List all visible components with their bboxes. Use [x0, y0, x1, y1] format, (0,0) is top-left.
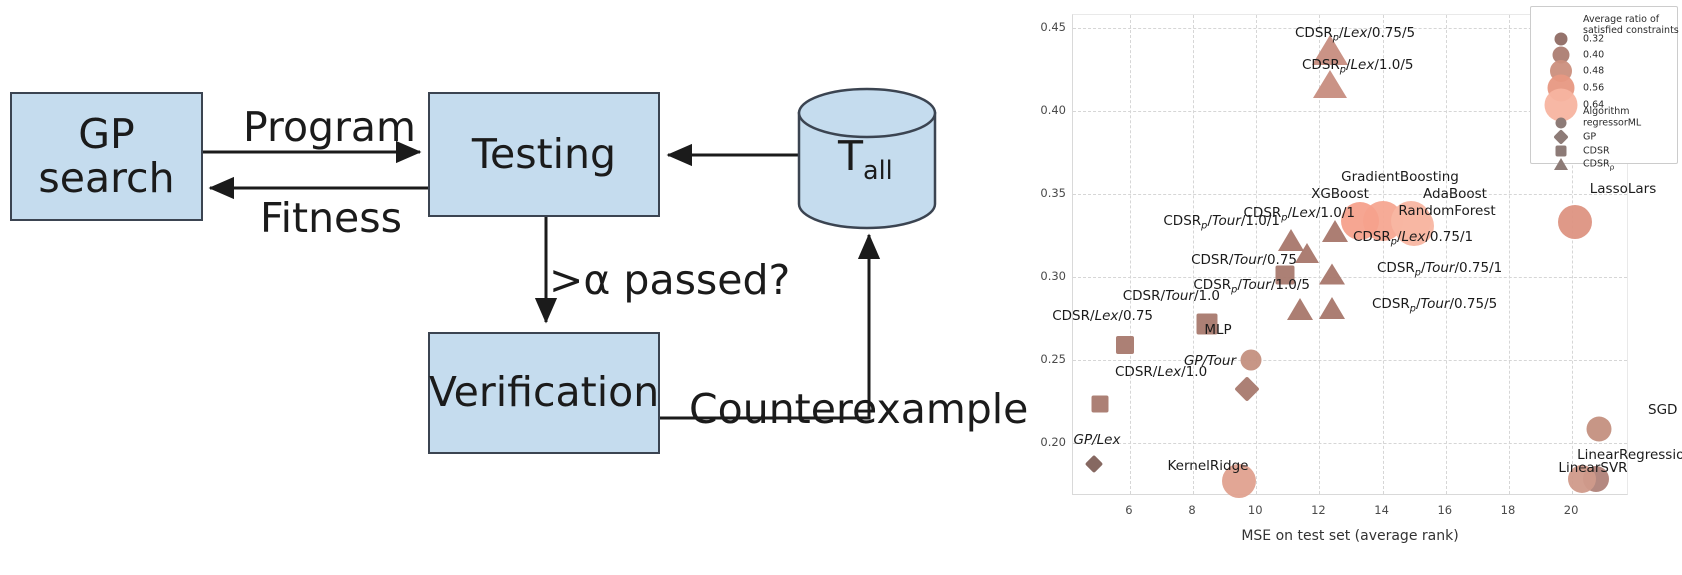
x-tick-label: 16: [1425, 503, 1465, 517]
scatter-point-label: CDSRp/Lex/0.75/1: [1353, 231, 1473, 247]
scatter-point-label: RandomForest: [1398, 205, 1495, 219]
y-tick-label: 0.30: [1020, 269, 1066, 283]
cylinder-label: Tall: [838, 132, 893, 185]
y-tick-label: 0.20: [1020, 435, 1066, 449]
scatter-point-label: XGBoost: [1311, 188, 1369, 202]
scatter-point-label: CDSRp/Tour/0.75/5: [1372, 298, 1497, 314]
scatter-point[interactable]: [1586, 416, 1611, 441]
y-tick-label: 0.25: [1020, 352, 1066, 366]
scatter-point-label: LassoLars: [1590, 183, 1657, 197]
x-tick-label: 6: [1109, 503, 1149, 517]
scatter-point-label: SGD: [1648, 404, 1677, 418]
y-tick-label: 0.45: [1020, 20, 1066, 34]
scatter-point-label: CDSRp/Tour/0.75/1: [1377, 262, 1502, 278]
box-gp-search[interactable]: GP search: [10, 92, 203, 221]
legend-size-label: 0.48: [1583, 66, 1604, 77]
scatter-point-label: LinearSVR: [1558, 462, 1627, 476]
legend-size-label: 0.32: [1583, 33, 1604, 44]
legend-size-label: 0.56: [1583, 82, 1604, 93]
edge-label-fitness: Fitness: [260, 194, 402, 242]
gridline-horizontal: [1073, 360, 1627, 361]
cylinder-label-sub: all: [863, 155, 893, 185]
legend-size-label: 0.40: [1583, 49, 1604, 60]
flow-diagram: GP search Testing Verification Tall Prog…: [0, 0, 1010, 575]
box-testing-label: Testing: [472, 133, 616, 176]
scatter-point[interactable]: [1319, 263, 1345, 284]
legend-shape-title: Algorithm: [1583, 106, 1630, 117]
legend-shape-label: CDSRρ: [1583, 159, 1614, 172]
y-tick-label: 0.35: [1020, 186, 1066, 200]
scatter-point-label: KernelRidge: [1168, 460, 1249, 474]
chart-legend: Average ratio of satisfied constraints 0…: [1530, 6, 1678, 164]
scatter-point[interactable]: [1295, 243, 1319, 263]
scatter-point-label: GP/Lex: [1074, 434, 1121, 448]
gridline-vertical: [1509, 15, 1510, 494]
x-tick-label: 14: [1362, 503, 1402, 517]
gridline-vertical: [1446, 15, 1447, 494]
legend-shape-marker: [1553, 129, 1569, 145]
screenshot-root: { "diagram": { "name": "gp-verification-…: [0, 0, 1682, 575]
edge-label-counterexample: Counterexample: [689, 385, 1028, 433]
box-gp-search-line1: GP: [38, 113, 174, 156]
box-gp-search-line2: search: [38, 157, 174, 200]
box-verification-label: Verification: [429, 371, 659, 414]
diagram-connectors: [0, 0, 1010, 575]
edge-label-program: Program: [243, 103, 416, 151]
legend-shape-label: GP: [1583, 132, 1596, 143]
legend-shape-marker: [1554, 158, 1568, 170]
legend-shape-marker: [1556, 146, 1567, 157]
x-tick-label: 12: [1298, 503, 1338, 517]
scatter-point-label: CDSR/Tour/0.75: [1191, 254, 1297, 268]
scatter-point-label: CDSRp/Tour/1.0/1: [1163, 215, 1280, 231]
scatter-point[interactable]: [1241, 349, 1262, 370]
legend-size-title-line1: Average ratio of: [1583, 14, 1659, 25]
gridline-horizontal: [1073, 443, 1627, 444]
scatter-point-label: AdaBoost: [1423, 188, 1487, 202]
box-verification[interactable]: Verification: [428, 332, 660, 454]
scatter-chart: Average success rate MSE on test set (av…: [1010, 0, 1682, 575]
scatter-point[interactable]: [1319, 297, 1345, 319]
legend-shape-marker: [1556, 118, 1567, 129]
scatter-point-label: CDSRp/Lex/0.75/5: [1295, 27, 1415, 43]
x-tick-label: 8: [1172, 503, 1212, 517]
gridline-horizontal: [1073, 277, 1627, 278]
scatter-point-label: CDSR/Tour/1.0: [1123, 290, 1220, 304]
scatter-point[interactable]: [1091, 395, 1108, 412]
legend-size-marker: [1545, 88, 1578, 121]
gridline-vertical: [1383, 15, 1384, 494]
legend-shape-label: regressorML: [1583, 118, 1641, 129]
scatter-point-label: MLP: [1204, 324, 1231, 338]
scatter-point-label: CDSR/Lex/1.0: [1115, 366, 1207, 380]
legend-size-marker: [1555, 32, 1568, 45]
y-tick-label: 0.40: [1020, 103, 1066, 117]
scatter-point-label: GradientBoosting: [1341, 171, 1459, 185]
cylinder-label-main: T: [838, 132, 863, 180]
scatter-point[interactable]: [1558, 205, 1592, 239]
edge-label-passed: >α passed?: [549, 256, 790, 304]
scatter-point-label: CDSRp/Lex/1.0/5: [1302, 59, 1414, 75]
x-tick-label: 20: [1551, 503, 1591, 517]
box-testing[interactable]: Testing: [428, 92, 660, 217]
x-axis-label: MSE on test set (average rank): [1072, 528, 1628, 544]
scatter-point[interactable]: [1084, 454, 1102, 472]
gridline-vertical: [1130, 15, 1131, 494]
scatter-point[interactable]: [1322, 220, 1348, 242]
x-tick-label: 10: [1235, 503, 1275, 517]
scatter-point-label: CDSR/Lex/0.75: [1052, 310, 1153, 324]
x-tick-label: 18: [1488, 503, 1528, 517]
scatter-point[interactable]: [1287, 298, 1313, 320]
legend-shape-label: CDSR: [1583, 146, 1610, 157]
scatter-point[interactable]: [1116, 336, 1134, 354]
